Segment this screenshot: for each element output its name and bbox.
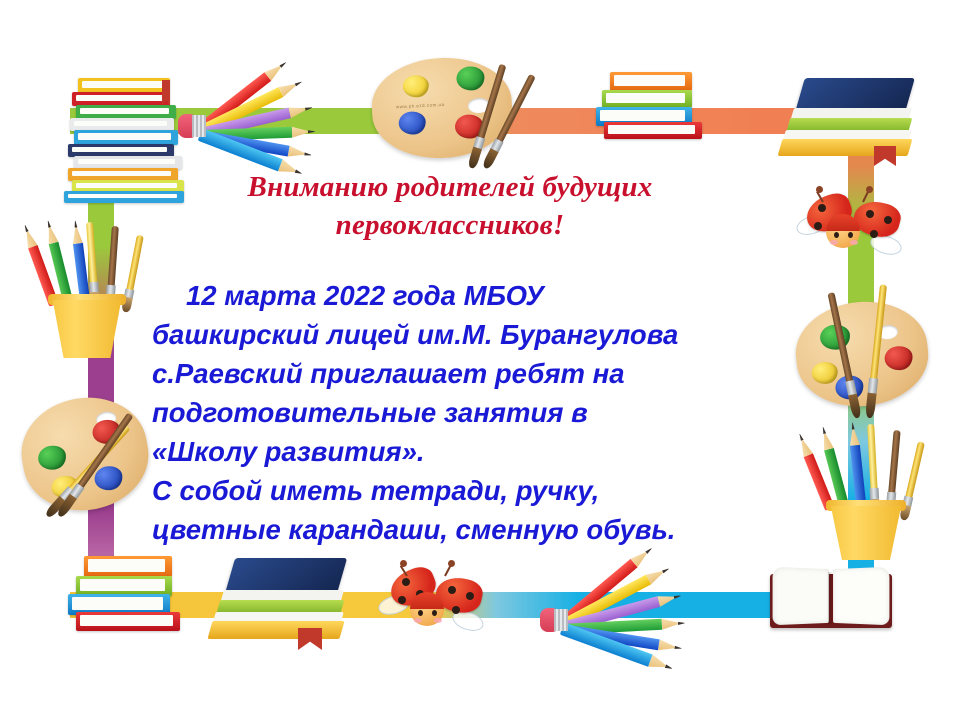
colored-pencils-top	[178, 58, 358, 168]
paint-blob-blue	[93, 464, 125, 492]
poster-canvas: www.ph.ezd.com.ua	[0, 0, 960, 720]
book-stack-top-center	[588, 72, 708, 140]
pencil-cup-left	[30, 208, 160, 358]
book-stack-top-right	[778, 78, 918, 166]
body-line-4: подготовительные занятия в	[152, 393, 812, 432]
body-line-6: С собой иметь тетради, ручку,	[152, 471, 812, 510]
bookmark-icon	[298, 628, 322, 650]
colored-pencils-bottom	[540, 548, 730, 658]
ladybug-bottom-center	[382, 562, 492, 642]
paint-palette-left	[16, 390, 166, 520]
body-line-7: цветные карандаши, сменную обувь.	[152, 510, 812, 549]
page-title: Вниманию родителей будущих первоклассник…	[150, 168, 750, 245]
body-line-1: 12 марта 2022 года МБОУ	[152, 276, 812, 315]
ladybug-top-right	[800, 188, 910, 262]
bookmark-icon	[874, 146, 896, 166]
headline-text: Вниманию родителей будущих первоклассник…	[248, 171, 653, 241]
paint-blob-yellow	[811, 361, 839, 386]
book-stack-bottom-left	[60, 556, 190, 642]
paint-blob-blue	[398, 111, 426, 135]
paint-blob-red	[883, 345, 913, 372]
open-book-bottom-right	[770, 566, 892, 628]
body-line-2: башкирский лицей им.М. Бурангулова	[152, 315, 812, 354]
paint-blob-green	[36, 444, 68, 472]
body-line-3: с.Раевский приглашает ребят на	[152, 354, 812, 393]
pencil-cup-right	[800, 400, 940, 560]
paint-blob-yellow	[402, 75, 429, 98]
paint-palette-top: www.ph.ezd.com.ua	[372, 58, 512, 162]
paint-blob-green	[456, 66, 485, 91]
book-stack-bottom-center	[210, 558, 360, 652]
body-line-5: «Школу развития».	[152, 432, 812, 471]
announcement-body: 12 марта 2022 года МБОУ башкирский лицей…	[152, 276, 812, 549]
